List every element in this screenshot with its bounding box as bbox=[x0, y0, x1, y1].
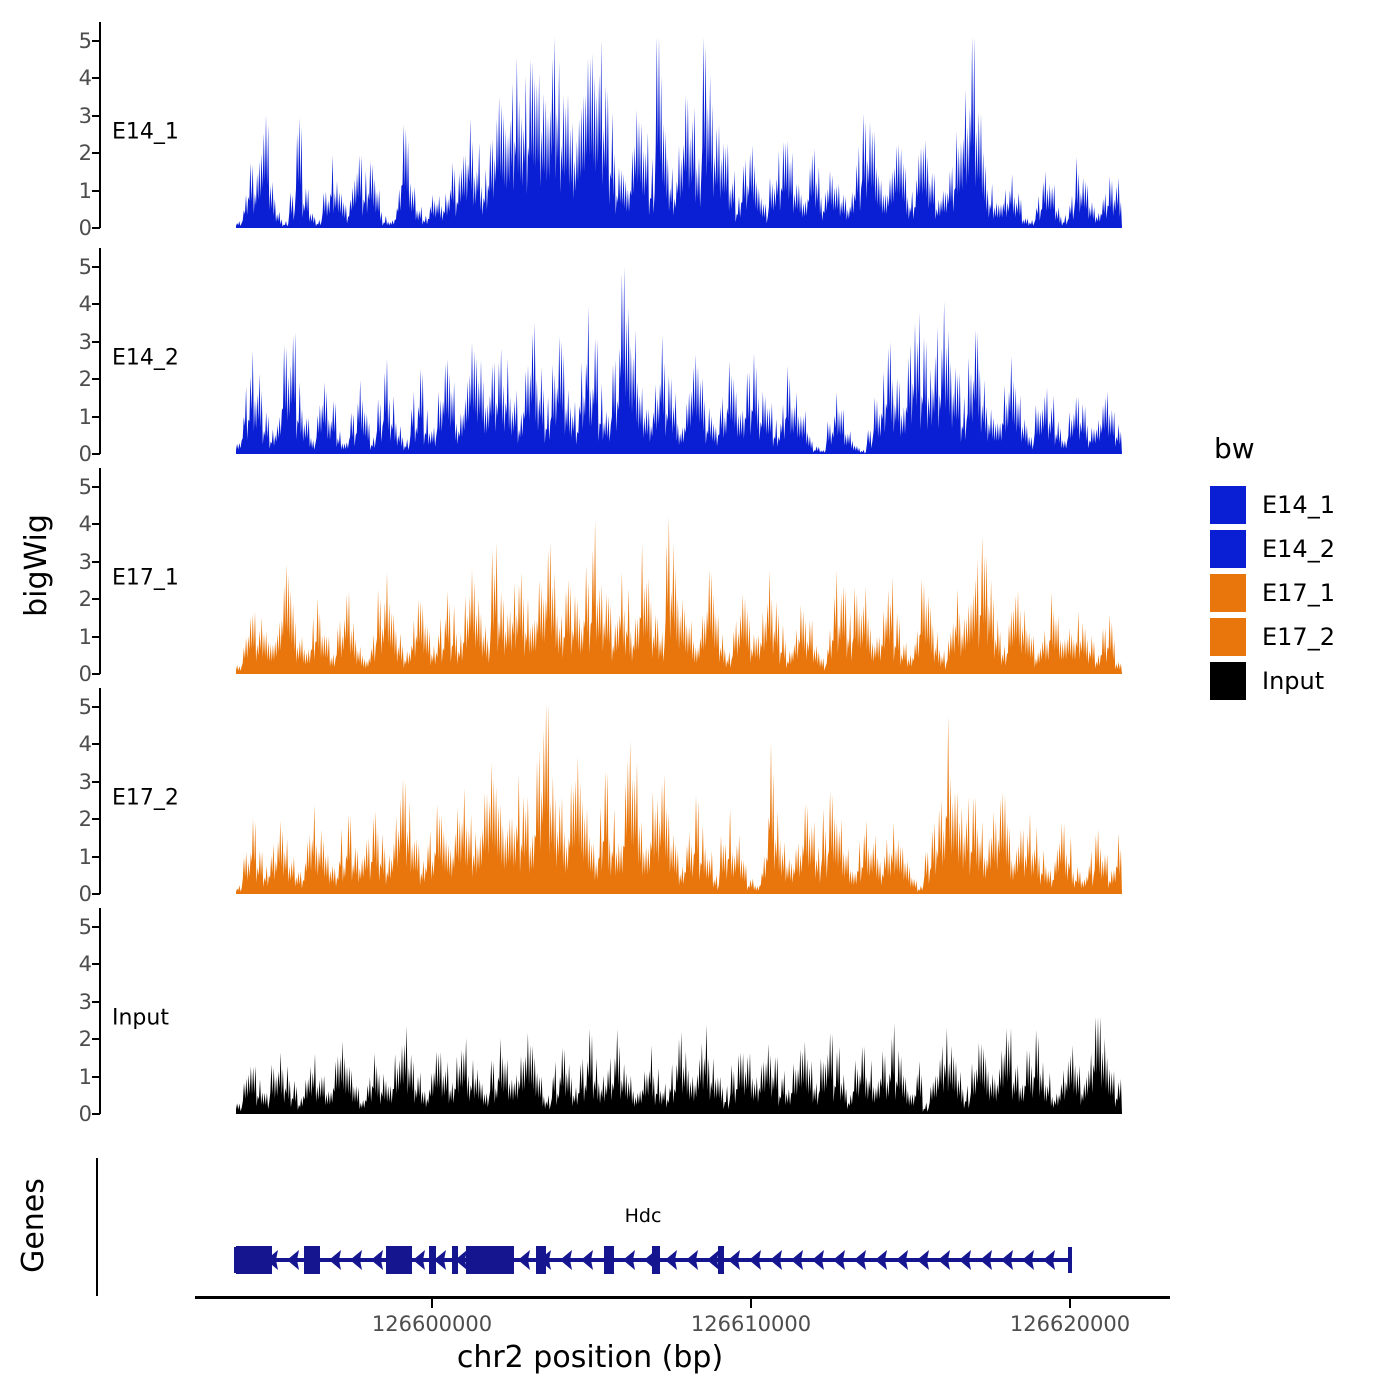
y-tick-label: 5 bbox=[62, 915, 92, 939]
track-facet-e14_2: 012345E14_2 bbox=[0, 248, 1180, 454]
gene-exon bbox=[406, 1246, 412, 1274]
gene-exon bbox=[304, 1246, 320, 1274]
y-tick-label: 4 bbox=[62, 66, 92, 90]
y-tick-label: 3 bbox=[62, 990, 92, 1014]
coverage-area bbox=[236, 1017, 1122, 1114]
y-axis-line bbox=[99, 468, 101, 674]
gene-exon bbox=[466, 1246, 514, 1274]
y-tick bbox=[92, 706, 100, 708]
y-tick bbox=[92, 1076, 100, 1078]
y-tick bbox=[92, 190, 100, 192]
y-tick bbox=[92, 893, 100, 895]
y-tick bbox=[92, 818, 100, 820]
gene-model-area[interactable]: Hdc bbox=[108, 1150, 1180, 1300]
y-tick-label: 0 bbox=[62, 662, 92, 686]
y-tick bbox=[92, 152, 100, 154]
coverage-plot-e17_2[interactable] bbox=[108, 688, 1180, 894]
track-facet-e14_1: 012345E14_1 bbox=[0, 22, 1180, 228]
y-tick-label: 2 bbox=[62, 587, 92, 611]
gene-name-label: Hdc bbox=[625, 1205, 662, 1227]
y-tick bbox=[92, 486, 100, 488]
gene-exon bbox=[452, 1246, 458, 1274]
gene-exon bbox=[718, 1246, 724, 1274]
x-tick-label: 126610000 bbox=[691, 1312, 811, 1336]
y-tick-label: 5 bbox=[62, 29, 92, 53]
coverage-area bbox=[236, 703, 1122, 894]
y-tick-label: 5 bbox=[62, 695, 92, 719]
y-tick-label: 5 bbox=[62, 255, 92, 279]
y-tick-label: 3 bbox=[62, 104, 92, 128]
legend-label: E14_2 bbox=[1262, 535, 1335, 563]
track-facet-input: 012345Input bbox=[0, 908, 1180, 1114]
legend-color-swatch bbox=[1210, 662, 1246, 700]
y-tick bbox=[92, 77, 100, 79]
y-tick bbox=[92, 523, 100, 525]
y-tick-label: 1 bbox=[62, 625, 92, 649]
coverage-area bbox=[236, 517, 1122, 674]
legend-label: E14_1 bbox=[1262, 491, 1335, 519]
gene-exon bbox=[386, 1246, 406, 1274]
x-axis-title: chr2 position (bp) bbox=[0, 1340, 1180, 1375]
y-axis-line bbox=[99, 688, 101, 894]
x-axis-line bbox=[195, 1296, 1170, 1299]
y-tick bbox=[92, 781, 100, 783]
y-axis-line bbox=[99, 908, 101, 1114]
y-tick bbox=[92, 1113, 100, 1115]
y-tick bbox=[92, 453, 100, 455]
y-tick bbox=[92, 227, 100, 229]
legend-label: E17_1 bbox=[1262, 579, 1335, 607]
y-tick bbox=[92, 743, 100, 745]
legend-item-e14_1[interactable]: E14_1 bbox=[1210, 483, 1390, 527]
track-facet-e17_1: 012345E17_1 bbox=[0, 468, 1180, 674]
y-tick-label: 4 bbox=[62, 952, 92, 976]
y-tick-label: 1 bbox=[62, 179, 92, 203]
y-tick bbox=[92, 926, 100, 928]
y-tick bbox=[92, 1038, 100, 1040]
coverage-area bbox=[236, 267, 1122, 454]
y-tick-label: 2 bbox=[62, 141, 92, 165]
gene-exon bbox=[604, 1246, 614, 1274]
gene-exon bbox=[536, 1246, 546, 1274]
coverage-plot-e14_2[interactable] bbox=[108, 248, 1180, 454]
legend-item-e14_2[interactable]: E14_2 bbox=[1210, 527, 1390, 571]
y-tick-label: 0 bbox=[62, 1102, 92, 1126]
gene-exon bbox=[652, 1246, 660, 1274]
track-facet-e17_2: 012345E17_2 bbox=[0, 688, 1180, 894]
y-tick-label: 1 bbox=[62, 405, 92, 429]
y-tick-label: 4 bbox=[62, 512, 92, 536]
y-axis-line bbox=[99, 248, 101, 454]
coverage-area bbox=[236, 37, 1122, 228]
legend-items: E14_1E14_2E17_1E17_2Input bbox=[1210, 483, 1390, 703]
legend: bw E14_1E14_2E17_1E17_2Input bbox=[1210, 432, 1390, 703]
legend-item-e17_1[interactable]: E17_1 bbox=[1210, 571, 1390, 615]
y-tick bbox=[92, 416, 100, 418]
y-tick bbox=[92, 266, 100, 268]
gene-exon bbox=[236, 1246, 272, 1274]
y-tick bbox=[92, 598, 100, 600]
genes-track-panel: Hdc bbox=[0, 1150, 1180, 1300]
coverage-plot-e17_1[interactable] bbox=[108, 468, 1180, 674]
y-tick-label: 5 bbox=[62, 475, 92, 499]
y-tick bbox=[92, 963, 100, 965]
y-tick-label: 1 bbox=[62, 845, 92, 869]
y-tick-label: 0 bbox=[62, 442, 92, 466]
x-tick bbox=[750, 1299, 752, 1308]
gene-end-cap bbox=[1068, 1247, 1072, 1273]
y-tick bbox=[92, 673, 100, 675]
gene-exon bbox=[429, 1246, 436, 1274]
coverage-plot-input[interactable] bbox=[108, 908, 1180, 1114]
genes-axis-line bbox=[96, 1158, 98, 1296]
y-tick-label: 4 bbox=[62, 732, 92, 756]
coverage-plot-e14_1[interactable] bbox=[108, 22, 1180, 228]
y-tick-label: 1 bbox=[62, 1065, 92, 1089]
y-tick bbox=[92, 115, 100, 117]
x-tick bbox=[1069, 1299, 1071, 1308]
y-tick bbox=[92, 378, 100, 380]
legend-item-input[interactable]: Input bbox=[1210, 659, 1390, 703]
y-tick-label: 2 bbox=[62, 807, 92, 831]
y-tick bbox=[92, 561, 100, 563]
legend-label: E17_2 bbox=[1262, 623, 1335, 651]
y-tick-label: 0 bbox=[62, 216, 92, 240]
x-tick-label: 126600000 bbox=[372, 1312, 492, 1336]
legend-color-swatch bbox=[1210, 530, 1246, 568]
y-tick bbox=[92, 303, 100, 305]
y-tick-label: 3 bbox=[62, 770, 92, 794]
y-tick-label: 4 bbox=[62, 292, 92, 316]
y-tick-label: 2 bbox=[62, 1027, 92, 1051]
y-tick bbox=[92, 1001, 100, 1003]
legend-color-swatch bbox=[1210, 574, 1246, 612]
x-tick bbox=[431, 1299, 433, 1308]
y-axis-line bbox=[99, 22, 101, 228]
y-tick bbox=[92, 856, 100, 858]
y-tick-label: 3 bbox=[62, 550, 92, 574]
x-tick-label: 126620000 bbox=[1010, 1312, 1130, 1336]
y-tick-label: 3 bbox=[62, 330, 92, 354]
legend-color-swatch bbox=[1210, 618, 1246, 656]
y-tick-label: 2 bbox=[62, 367, 92, 391]
legend-title: bw bbox=[1214, 432, 1390, 465]
y-tick-label: 0 bbox=[62, 882, 92, 906]
legend-color-swatch bbox=[1210, 486, 1246, 524]
legend-item-e17_2[interactable]: E17_2 bbox=[1210, 615, 1390, 659]
y-tick bbox=[92, 40, 100, 42]
y-tick bbox=[92, 636, 100, 638]
y-tick bbox=[92, 341, 100, 343]
legend-label: Input bbox=[1262, 667, 1324, 695]
